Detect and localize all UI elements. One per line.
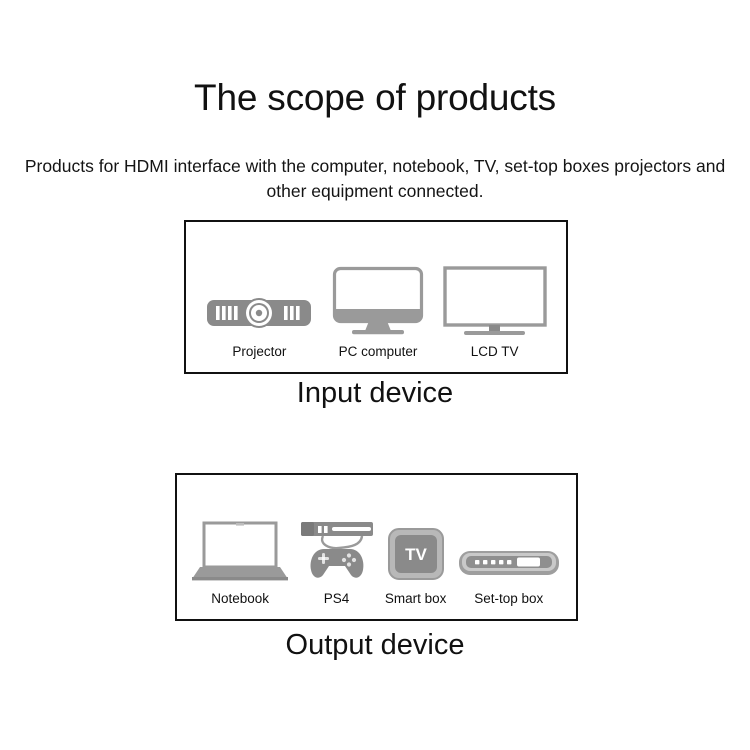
output-device-box: Notebook <box>175 473 578 621</box>
projector-icon <box>205 288 313 336</box>
device-item-pc-computer[interactable]: PC computer <box>332 266 424 359</box>
smart-box-badge-text: TV <box>405 545 427 564</box>
input-device-box: Projector PC computer <box>184 220 568 374</box>
device-label: Smart box <box>385 592 447 606</box>
laptop-icon <box>192 521 288 583</box>
device-item-lcd-tv[interactable]: LCD TV <box>443 266 547 359</box>
game-console-gamepad-icon <box>299 519 375 583</box>
device-label: LCD TV <box>471 345 519 359</box>
device-label: PS4 <box>324 592 350 606</box>
input-section-caption: Input device <box>0 378 750 410</box>
input-device-list: Projector PC computer <box>186 222 566 372</box>
page-subtitle: Products for HDMI interface with the com… <box>0 154 750 205</box>
device-label: PC computer <box>339 345 418 359</box>
device-item-set-top-box[interactable]: Set-top box <box>457 539 561 606</box>
set-top-box-icon <box>457 539 561 583</box>
device-label: Notebook <box>211 592 269 606</box>
output-device-list: Notebook <box>177 475 576 619</box>
device-item-smart-box[interactable]: TV Smart box <box>385 527 447 606</box>
page-title: The scope of products <box>0 78 750 119</box>
desktop-monitor-icon <box>332 266 424 336</box>
device-item-projector[interactable]: Projector <box>205 288 313 359</box>
device-item-notebook[interactable]: Notebook <box>192 521 288 606</box>
device-label: Set-top box <box>474 592 543 606</box>
smart-tv-box-icon: TV <box>387 527 445 583</box>
device-item-ps4[interactable]: PS4 <box>299 519 375 606</box>
device-label: Projector <box>232 345 286 359</box>
lcd-tv-icon <box>443 266 547 336</box>
output-section-caption: Output device <box>0 630 750 662</box>
